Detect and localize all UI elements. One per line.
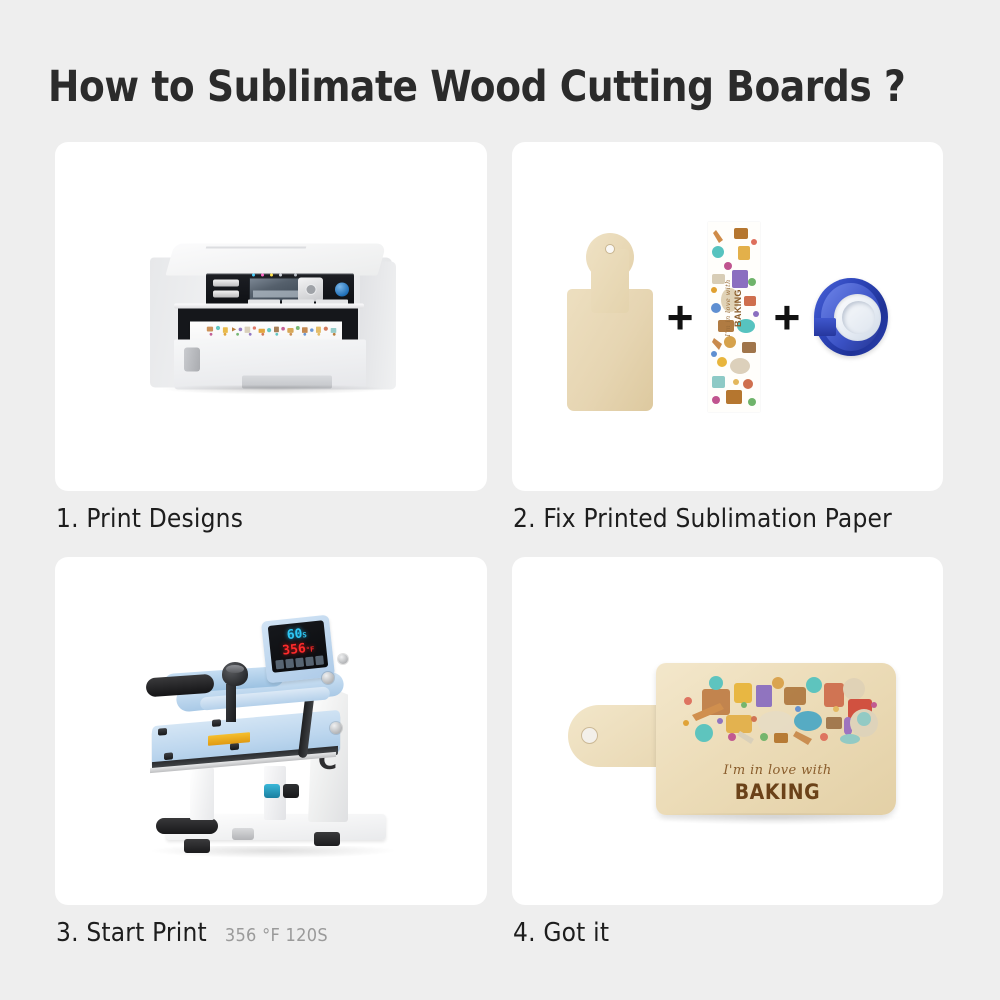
blank-wood-cutting-board — [567, 223, 653, 411]
baking-doodle-art-icon — [204, 325, 344, 339]
printer-top-lid — [165, 244, 386, 276]
printer-lcd-screen — [249, 278, 303, 302]
caption-step-2: 2. Fix Printed Sublimation Paper — [513, 504, 892, 534]
printer-navigation-pad — [298, 278, 323, 302]
heat-press-illustration: C 60S 356°F — [116, 596, 426, 886]
press-foot-right — [314, 832, 340, 846]
printer-control-panel — [206, 274, 354, 306]
caption-step-3-label: 3. Start Print — [56, 918, 207, 948]
infographic-page: How to Sublimate Wood Cutting Boards ? — [0, 0, 1000, 1000]
board-blank-handle — [591, 249, 629, 313]
caption-step-1-label: 1. Print Designs — [56, 504, 243, 534]
sublimation-printer-illustration: I'm in love with BAKING — [146, 236, 396, 411]
press-column-left — [190, 768, 214, 820]
plus-sign-1: + — [667, 294, 694, 340]
press-hinge-top — [338, 654, 348, 664]
press-digital-display[interactable]: 60S 356°F — [268, 621, 329, 674]
finished-board-text: I'm in love with BAKING — [678, 763, 878, 804]
materials-row: + — [512, 142, 943, 491]
press-front-bar — [156, 818, 218, 834]
caption-step-1: 1. Print Designs — [56, 504, 243, 534]
tape-edge-band — [814, 318, 836, 336]
printer-front-handle — [184, 348, 200, 372]
board-blank-hanging-hole — [606, 245, 614, 253]
blue-heat-resistant-tape — [814, 278, 888, 356]
press-shadow — [152, 846, 394, 858]
caption-step-4: 4. Got it — [513, 918, 609, 948]
step-card-4: I'm in love with BAKING — [512, 557, 943, 905]
finished-cutting-board: I'm in love with BAKING — [560, 643, 896, 833]
press-pressure-knob — [222, 662, 248, 686]
paper-text: I'm in love with BAKING — [723, 253, 743, 363]
printer-shadow — [160, 386, 386, 395]
step-card-3: C 60S 356°F — [55, 557, 487, 905]
printer-power-button — [335, 283, 349, 297]
printer-side-buttons — [213, 280, 239, 299]
printed-sublimation-paper: I'm in love with BAKING — [708, 222, 760, 412]
step-card-2: + — [512, 142, 943, 491]
caption-step-4-label: 4. Got it — [513, 918, 609, 948]
finished-board-shadow — [650, 813, 900, 825]
plus-sign-2: + — [774, 294, 801, 340]
printer-tray-lip — [174, 304, 364, 309]
caption-step-2-label: 2. Fix Printed Sublimation Paper — [513, 504, 892, 534]
press-center-post — [226, 684, 236, 722]
tape-center-hole — [842, 301, 875, 334]
press-hinge-upper — [322, 672, 334, 684]
finished-board-hanging-hole — [582, 728, 597, 743]
step-card-1: I'm in love with BAKING — [55, 142, 487, 491]
caption-step-3: 3. Start Print356 °F 120S — [56, 918, 328, 948]
caption-step-3-subtext: 356 °F 120S — [225, 925, 328, 946]
page-title: How to Sublimate Wood Cutting Boards ? — [48, 62, 950, 112]
printer-status-leds — [251, 273, 303, 277]
press-hinge-lower — [330, 722, 342, 734]
press-valve-connectors — [264, 784, 302, 798]
press-foot-mid — [232, 828, 254, 840]
baking-doodle-art-icon — [678, 675, 878, 747]
